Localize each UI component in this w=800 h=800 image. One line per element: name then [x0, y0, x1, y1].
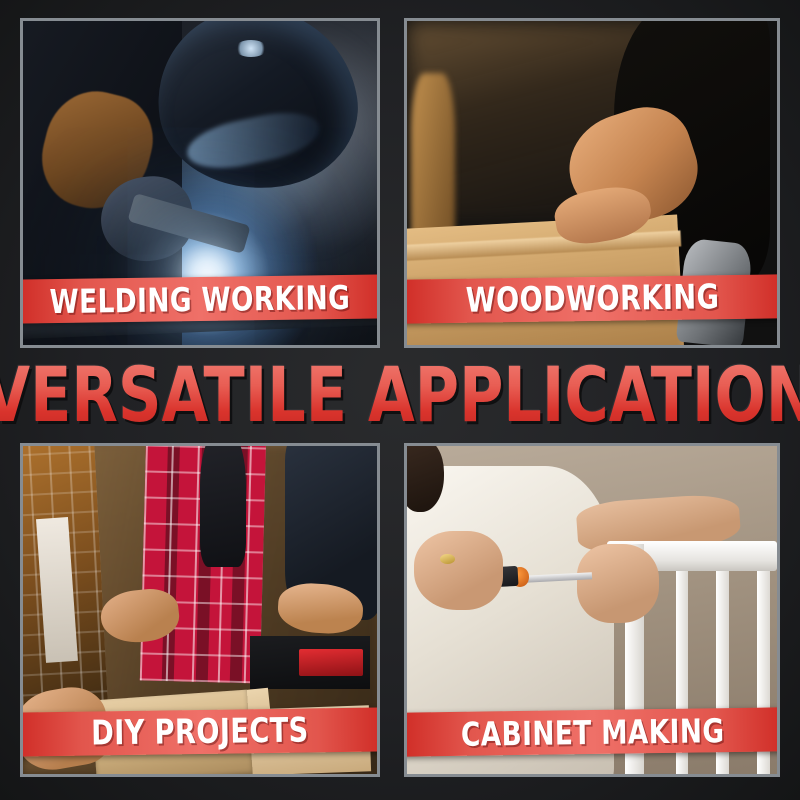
panel-welding[interactable]: WELDING WORKING: [20, 18, 380, 348]
helmet-highlight-shape: [235, 40, 267, 56]
caption-banner-woodworking: WOODWORKING: [404, 274, 780, 323]
caption-banner-diy: DIY PROJECTS: [20, 707, 380, 756]
caption-banner-cabinet: CABINET MAKING: [404, 707, 780, 756]
black-tshirt-shape: [200, 446, 246, 567]
caption-banner-welding: WELDING WORKING: [20, 274, 380, 323]
panel-grid: WELDING WORKING WOODWORKING: [0, 0, 800, 800]
caption-label-diy: DIY PROJECTS: [91, 713, 309, 750]
panel-woodworking[interactable]: WOODWORKING: [404, 18, 780, 348]
left-hand-shape: [414, 531, 503, 610]
caption-label-welding: WELDING WORKING: [49, 280, 350, 317]
red-toolbox-tray-shape: [299, 649, 363, 675]
caption-label-cabinet: CABINET MAKING: [460, 714, 724, 751]
panel-cabinet-making[interactable]: CABINET MAKING: [404, 443, 780, 777]
caption-label-woodworking: WOODWORKING: [465, 280, 719, 318]
versatile-application-poster: WELDING WORKING WOODWORKING: [0, 0, 800, 800]
right-hand-shape: [577, 544, 658, 623]
panel-diy-projects[interactable]: DIY PROJECTS: [20, 443, 380, 777]
